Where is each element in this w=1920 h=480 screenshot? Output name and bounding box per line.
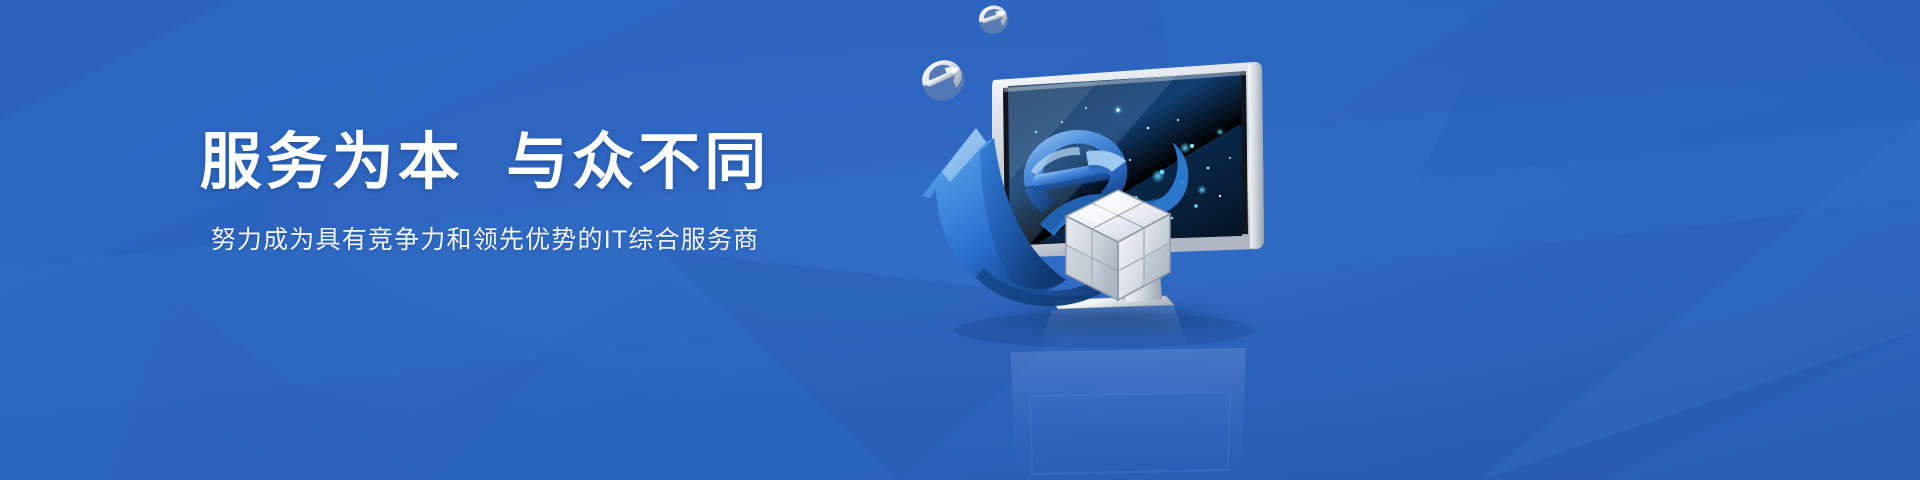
hero-banner: 服务为本 与众不同 努力成为具有竞争力和领先优势的IT综合服务商 [0,0,1920,480]
floating-e-small-icon [916,54,970,107]
monitor-reflection [955,306,1255,474]
banner-headline: 服务为本 与众不同 [0,128,970,197]
banner-text-block: 服务为本 与众不同 努力成为具有竞争力和领先优势的IT综合服务商 [0,128,970,255]
floating-e-tiny-icon [975,2,1011,38]
banner-subheadline: 努力成为具有竞争力和领先优势的IT综合服务商 [0,225,970,255]
